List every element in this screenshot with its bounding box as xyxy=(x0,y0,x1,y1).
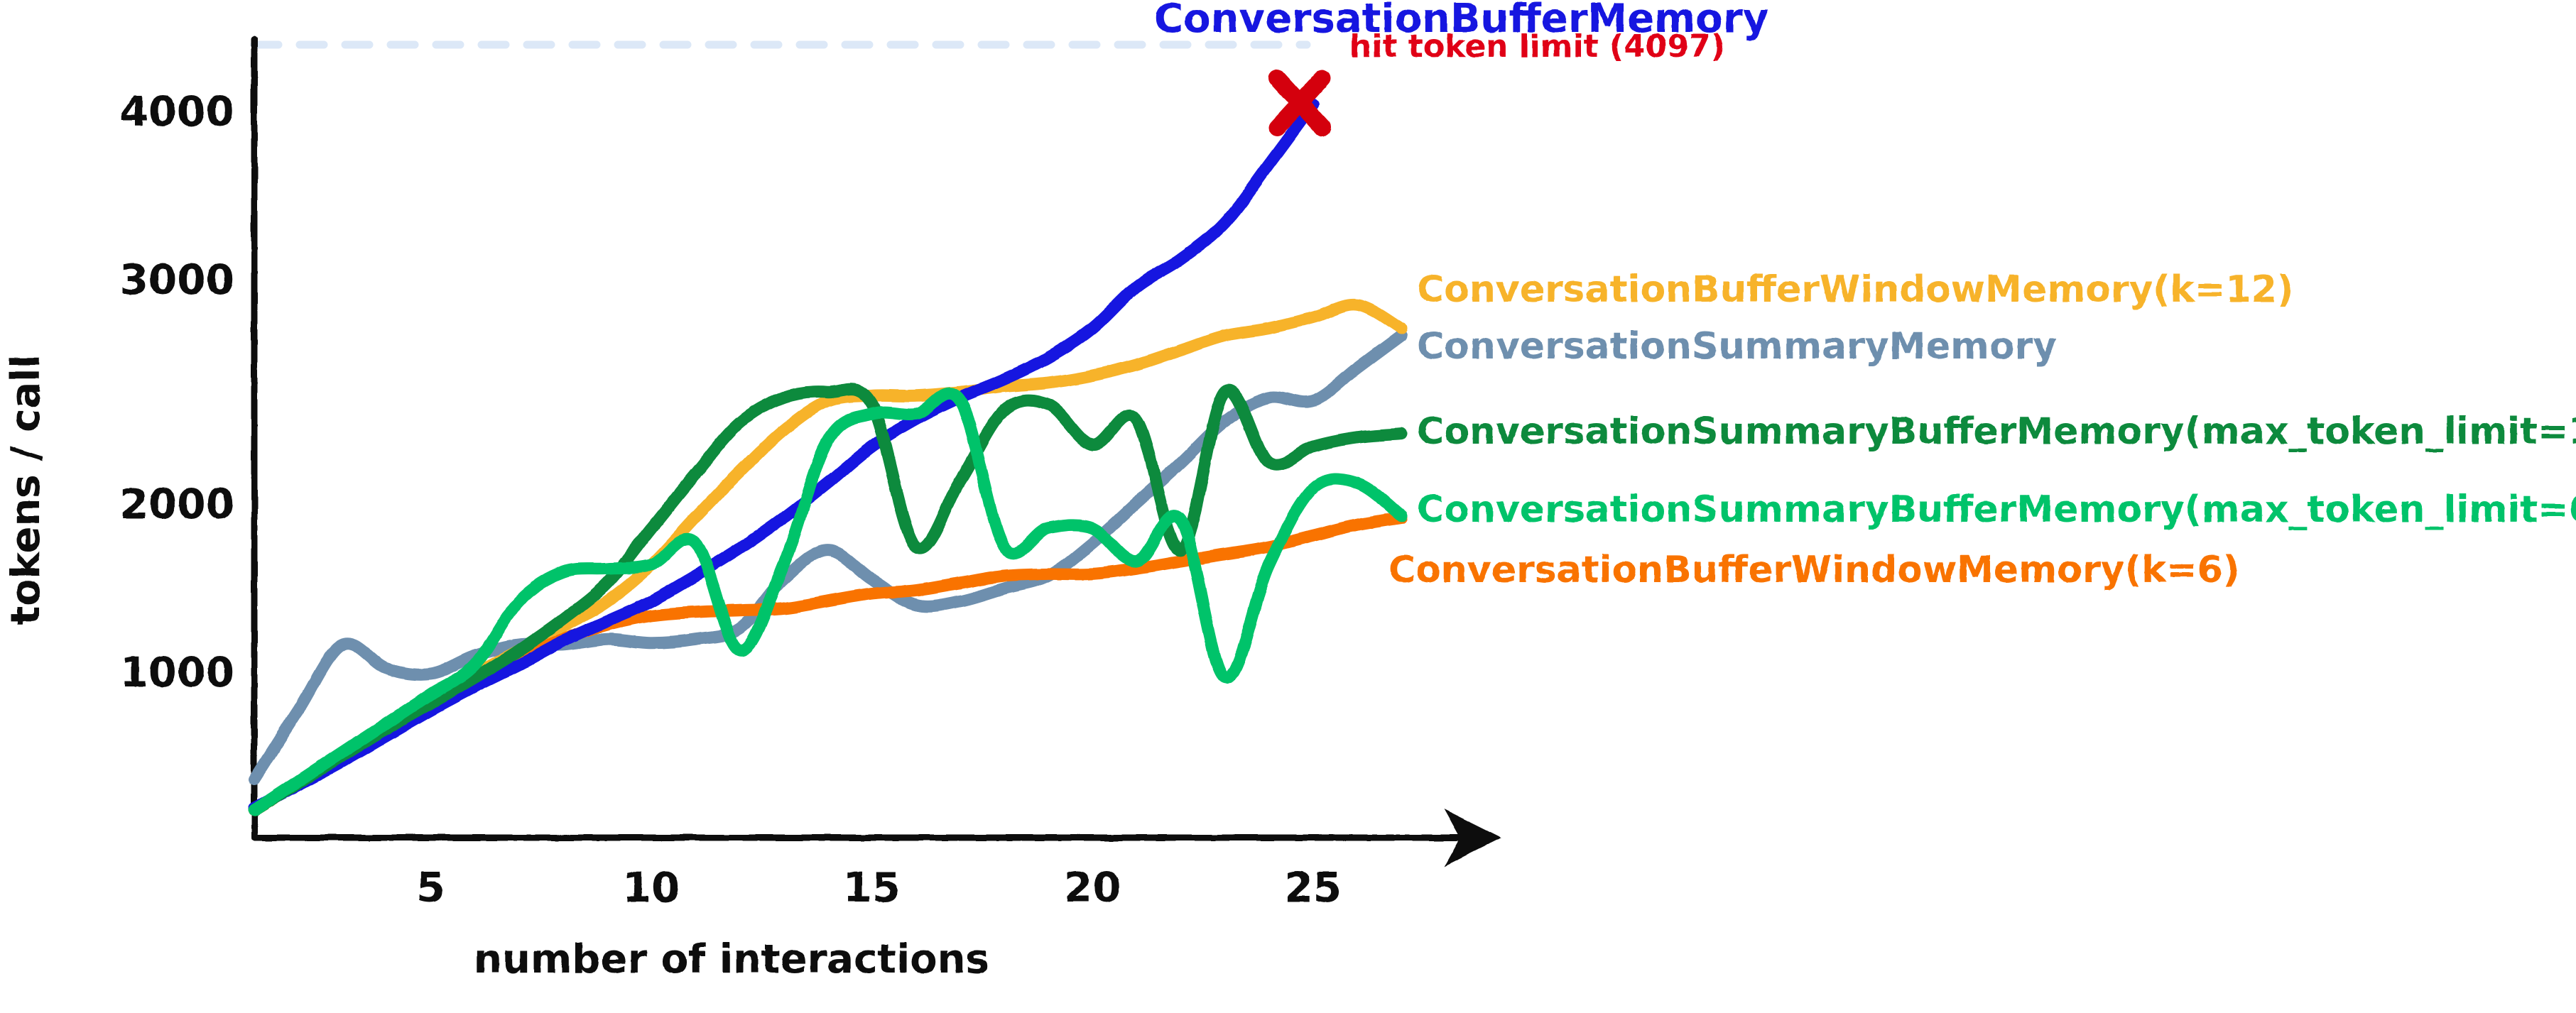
y-axis-title: tokens / call xyxy=(3,355,49,625)
x-tick-label: 15 xyxy=(843,863,901,911)
y-tick-label: 2000 xyxy=(120,480,234,528)
x-tick-label: 25 xyxy=(1284,863,1342,911)
series-label-summary-buffer-650: ConversationSummaryBufferMemory(max_toke… xyxy=(1417,488,2576,531)
series-label-window-k6: ConversationBufferWindowMemory(k=6) xyxy=(1388,549,2239,591)
x-tick-label: 5 xyxy=(416,863,445,911)
y-tick-label: 3000 xyxy=(120,256,234,304)
series-lines-group xyxy=(254,104,1401,810)
token-limit-annotation: hit token limit (4097) xyxy=(1349,28,1725,65)
x-tick-label: 20 xyxy=(1064,863,1121,911)
series-label-summary: ConversationSummaryMemory xyxy=(1417,325,2057,368)
y-tick-label: 1000 xyxy=(120,648,234,696)
series-label-window-k12: ConversationBufferWindowMemory(k=12) xyxy=(1417,268,2294,311)
line-chart-svg: 5101520251000200030004000 number of inte… xyxy=(0,0,2576,1013)
y-tick-label: 4000 xyxy=(120,87,234,136)
chart-container: 5101520251000200030004000 number of inte… xyxy=(0,0,2576,1013)
series-label-summary-buffer-1300: ConversationSummaryBufferMemory(max_toke… xyxy=(1417,410,2576,453)
x-tick-label: 10 xyxy=(623,863,680,911)
x-axis-title: number of interactions xyxy=(474,936,989,982)
series-line-conversationbufferwindowmemory-k-6 xyxy=(254,518,1401,811)
